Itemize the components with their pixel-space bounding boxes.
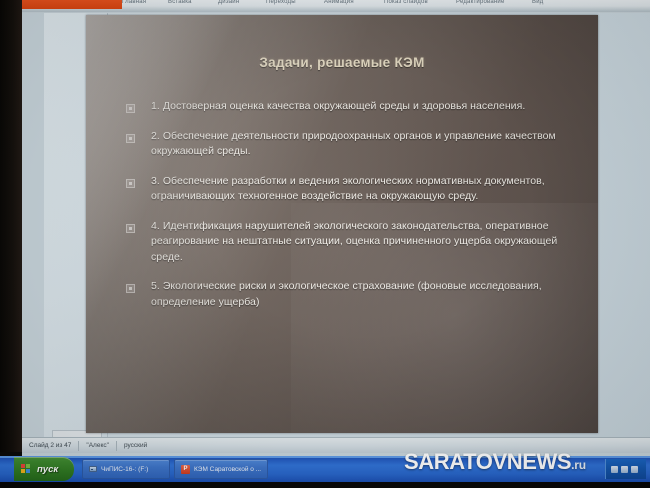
list-item[interactable]: 1. Достоверная оценка качества окружающе…	[126, 99, 580, 115]
small-square-bullet-icon	[126, 104, 135, 113]
ribbon-tab-transitions[interactable]: Переходы	[266, 0, 296, 5]
bullet-text: 5. Экологические риски и экологическое с…	[151, 279, 580, 310]
ribbon-tab-insert[interactable]: Вставка	[168, 0, 192, 5]
bullet-text: 4. Идентификация нарушителей экологическ…	[151, 219, 580, 266]
small-square-bullet-icon	[126, 179, 135, 188]
drive-window-icon	[89, 466, 97, 472]
ribbon-tab-view[interactable]: Вид	[532, 0, 543, 5]
ribbon-tab-slideshow[interactable]: Показ слайдов	[384, 0, 428, 5]
bullet-text: 3. Обеспечение разработки и ведения экол…	[151, 174, 580, 205]
monitor-photo-screenshot: Главная Вставка Дизайн Переходы Анимация…	[0, 0, 650, 488]
small-square-bullet-icon	[126, 224, 135, 233]
system-tray[interactable]	[605, 459, 646, 479]
list-item[interactable]: 4. Идентификация нарушителей экологическ…	[126, 219, 580, 266]
windows-flag-icon	[21, 464, 32, 475]
list-item[interactable]: 3. Обеспечение разработки и ведения экол…	[126, 174, 580, 205]
ribbon-tab-review[interactable]: Редактирование	[456, 0, 505, 5]
status-bar: Слайд 2 из 47 "Алекс" русский	[22, 437, 650, 453]
taskbar-highlight	[0, 456, 650, 458]
bullet-text: 1. Достоверная оценка качества окружающе…	[151, 99, 580, 115]
monitor-bezel-left	[0, 0, 22, 452]
taskbar-item-label: КЭМ Саратовской о ...	[194, 466, 261, 473]
slide-canvas[interactable]: Задачи, решаемые КЭМ 1. Достоверная оцен…	[86, 15, 598, 433]
taskbar-item-powerpoint[interactable]: P КЭМ Саратовской о ...	[174, 459, 268, 479]
taskbar-item-label: ЧиПИС-16-: (F:)	[101, 466, 148, 473]
monitor-bezel-bottom	[0, 482, 650, 488]
slide-title: Задачи, решаемые КЭМ	[86, 55, 598, 70]
powerpoint-icon: P	[181, 465, 190, 474]
slide-bullet-list: 1. Достоверная оценка качества окружающе…	[126, 99, 580, 324]
list-item[interactable]: 5. Экологические риски и экологическое с…	[126, 279, 580, 310]
ribbon-tab-row[interactable]: Главная Вставка Дизайн Переходы Анимация…	[22, 0, 650, 9]
slide-content: Задачи, решаемые КЭМ 1. Достоверная оцен…	[86, 15, 598, 433]
status-language[interactable]: русский	[117, 440, 154, 451]
windows-taskbar: пуск ЧиПИС-16-: (F:) P КЭМ Саратовской о…	[0, 456, 650, 482]
list-item[interactable]: 2. Обеспечение деятельности природоохран…	[126, 129, 580, 160]
taskbar-item-drive-window[interactable]: ЧиПИС-16-: (F:)	[82, 459, 170, 479]
small-square-bullet-icon	[126, 284, 135, 293]
ribbon-tab-animation[interactable]: Анимация	[324, 0, 354, 5]
ribbon-tab-design[interactable]: Дизайн	[218, 0, 239, 5]
ribbon-tab-home[interactable]: Главная	[122, 0, 146, 5]
ribbon-divider	[22, 11, 650, 13]
network-icon[interactable]	[611, 466, 618, 473]
status-slide-counter: Слайд 2 из 47	[22, 440, 78, 451]
taskbar-task-list: ЧиПИС-16-: (F:) P КЭМ Саратовской о ...	[82, 459, 268, 479]
bullet-text: 2. Обеспечение деятельности природоохран…	[151, 129, 580, 160]
start-button-label: пуск	[37, 464, 58, 475]
shield-icon[interactable]	[631, 466, 638, 473]
volume-icon[interactable]	[621, 466, 628, 473]
start-button[interactable]: пуск	[14, 457, 74, 481]
small-square-bullet-icon	[126, 134, 135, 143]
status-theme-name: "Алекс"	[79, 440, 116, 451]
